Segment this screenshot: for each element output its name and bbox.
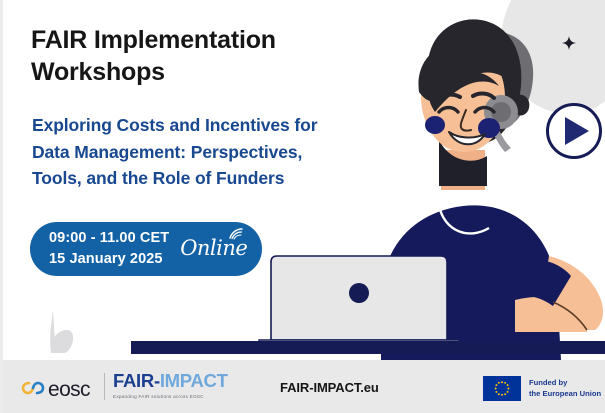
laptop-icon — [259, 256, 459, 352]
fair-impact-word-impact: IMPACT — [160, 370, 228, 391]
title-line-1: FAIR Implementation — [31, 24, 371, 56]
subtitle-line-2: Data Management: Perspectives, — [32, 139, 392, 166]
fair-impact-logo[interactable]: FAIR-IMPACT Expanding FAIR solutions acr… — [113, 372, 228, 399]
page-title: FAIR Implementation Workshops — [31, 24, 371, 88]
desk-bar — [131, 341, 605, 354]
eu-funding-line-1: Funded by — [529, 378, 601, 389]
footer-divider — [104, 373, 105, 400]
website-url[interactable]: FAIR-IMPACT.eu — [280, 380, 379, 395]
eu-funding-line-2: the European Union — [529, 389, 601, 400]
subtitle-line-3: Tools, and the Role of Funders — [32, 165, 392, 192]
eosc-wordmark: eosc — [48, 378, 90, 402]
event-time: 09:00 - 11.00 CET — [49, 228, 169, 249]
eosc-infinity-icon — [21, 380, 45, 401]
fair-impact-word-fair: FAIR — [113, 370, 154, 391]
fair-impact-tagline: Expanding FAIR solutions across EOSC — [113, 394, 228, 399]
event-date: 15 January 2025 — [49, 249, 169, 270]
subtitle-line-1: Exploring Costs and Incentives for — [32, 112, 392, 139]
page-subtitle: Exploring Costs and Incentives for Data … — [32, 112, 392, 192]
eu-flag-icon — [483, 376, 521, 401]
event-info-badge: 09:00 - 11.00 CET 15 January 2025 Online — [30, 222, 262, 276]
eosc-logo[interactable]: eosc — [21, 378, 90, 402]
play-icon — [565, 117, 589, 145]
wifi-icon — [228, 227, 243, 239]
promo-poster: FAIR Implementation Workshops Exploring … — [0, 0, 605, 413]
play-button[interactable] — [546, 103, 602, 159]
eu-funding-text: Funded by the European Union — [529, 378, 601, 400]
plant-icon — [41, 308, 81, 353]
fair-impact-wordmark: FAIR-IMPACT — [113, 372, 228, 391]
event-schedule: 09:00 - 11.00 CET 15 January 2025 — [49, 228, 169, 269]
eu-funding-logo: Funded by the European Union — [483, 376, 601, 401]
online-badge: Online — [180, 236, 247, 260]
title-line-2: Workshops — [31, 56, 371, 88]
